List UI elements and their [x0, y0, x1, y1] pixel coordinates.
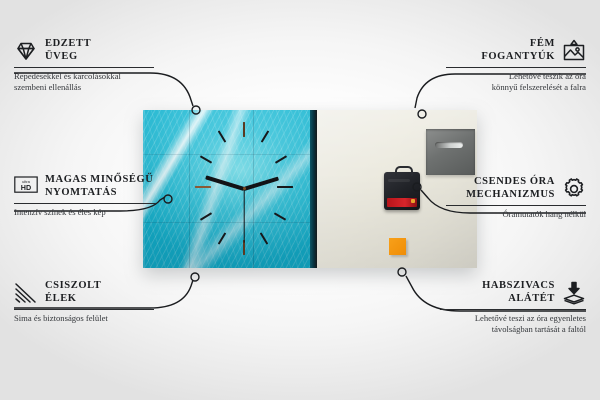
callout-divider: [14, 203, 156, 204]
foam-pad-icon: [562, 281, 586, 305]
gear-icon: [562, 177, 586, 201]
clock-center-pin: [243, 187, 246, 190]
mechanism-ridge: [388, 179, 410, 182]
callout-title: MAGAS MINŐSÉGŰ NYOMTATÁS: [45, 174, 153, 199]
callout-description: Lehetővé teszik az óra könnyű felszerelé…: [446, 71, 586, 92]
foam-pad: [389, 238, 406, 255]
clock-tick: [200, 212, 212, 220]
callout-description: Sima és biztonságos felület: [14, 313, 154, 324]
callout-divider: [440, 309, 586, 310]
product-infographic: EDZETT ÜVEG Repedésekkel és karcolásokka…: [0, 0, 600, 400]
clock-minute-hand: [205, 175, 244, 191]
product-image: [143, 110, 477, 268]
clock-tick: [218, 232, 226, 244]
callout-description: Repedésekkel és karcolásokkal szembeni e…: [14, 71, 154, 92]
hanger-slot: [435, 142, 463, 148]
callout-tempered-glass: EDZETT ÜVEG Repedésekkel és karcolásokka…: [14, 38, 154, 92]
battery: [387, 198, 417, 207]
clock-tick: [195, 186, 211, 188]
quartz-mechanism: [384, 172, 420, 210]
clock-tick: [243, 122, 245, 137]
callout-title: CSISZOLT ÉLEK: [45, 280, 101, 305]
picture-hanger-icon: [562, 39, 586, 63]
clock-dial: [143, 110, 310, 268]
metal-hanger-plate: [426, 129, 475, 175]
clock-tick: [277, 186, 293, 188]
callout-silent-mechanism: CSENDES ÓRA MECHANIZMUS Óramutatók hang …: [446, 176, 586, 220]
clock-tick: [261, 130, 269, 142]
callout-title: EDZETT ÜVEG: [45, 38, 91, 63]
callout-polished-edges: CSISZOLT ÉLEK Sima és biztonságos felüle…: [14, 280, 154, 324]
clock-tick: [260, 232, 268, 244]
callout-divider: [14, 67, 154, 68]
callout-high-quality-print: ultra HD MAGAS MINŐSÉGŰ NYOMTATÁS Intenz…: [14, 174, 156, 218]
ultra-hd-icon: ultra HD: [14, 175, 38, 199]
callout-description: Lehetővé teszi az óra egyenletes távolsá…: [440, 313, 586, 334]
callout-title: CSENDES ÓRA MECHANIZMUS: [466, 176, 555, 201]
callout-description: Óramutatók hang nélkül: [446, 209, 586, 220]
clock-hour-hand: [243, 177, 279, 191]
callout-title: HABSZIVACS ALÁTÉT: [482, 280, 555, 305]
svg-text:HD: HD: [21, 183, 31, 192]
callout-title: FÉM FOGANTYÚK: [481, 38, 555, 63]
clock-tick: [275, 155, 287, 163]
clock-tick: [274, 212, 286, 220]
callout-divider: [14, 309, 154, 310]
beveled-edges-icon: [14, 281, 38, 305]
callout-divider: [446, 205, 586, 206]
diamond-icon: [14, 39, 38, 63]
callout-description: Intenzív színek és éles kép: [14, 207, 156, 218]
callout-divider: [446, 67, 586, 68]
glass-edge: [310, 110, 317, 268]
callout-foam-backing: HABSZIVACS ALÁTÉT Lehetővé teszi az óra …: [440, 280, 586, 334]
clock-tick: [200, 155, 212, 163]
clock-tick: [218, 130, 226, 142]
callout-metal-handles: FÉM FOGANTYÚK Lehetővé teszik az óra kön…: [446, 38, 586, 92]
mechanism-hook: [395, 166, 413, 176]
clock-second-hand: [243, 189, 244, 243]
